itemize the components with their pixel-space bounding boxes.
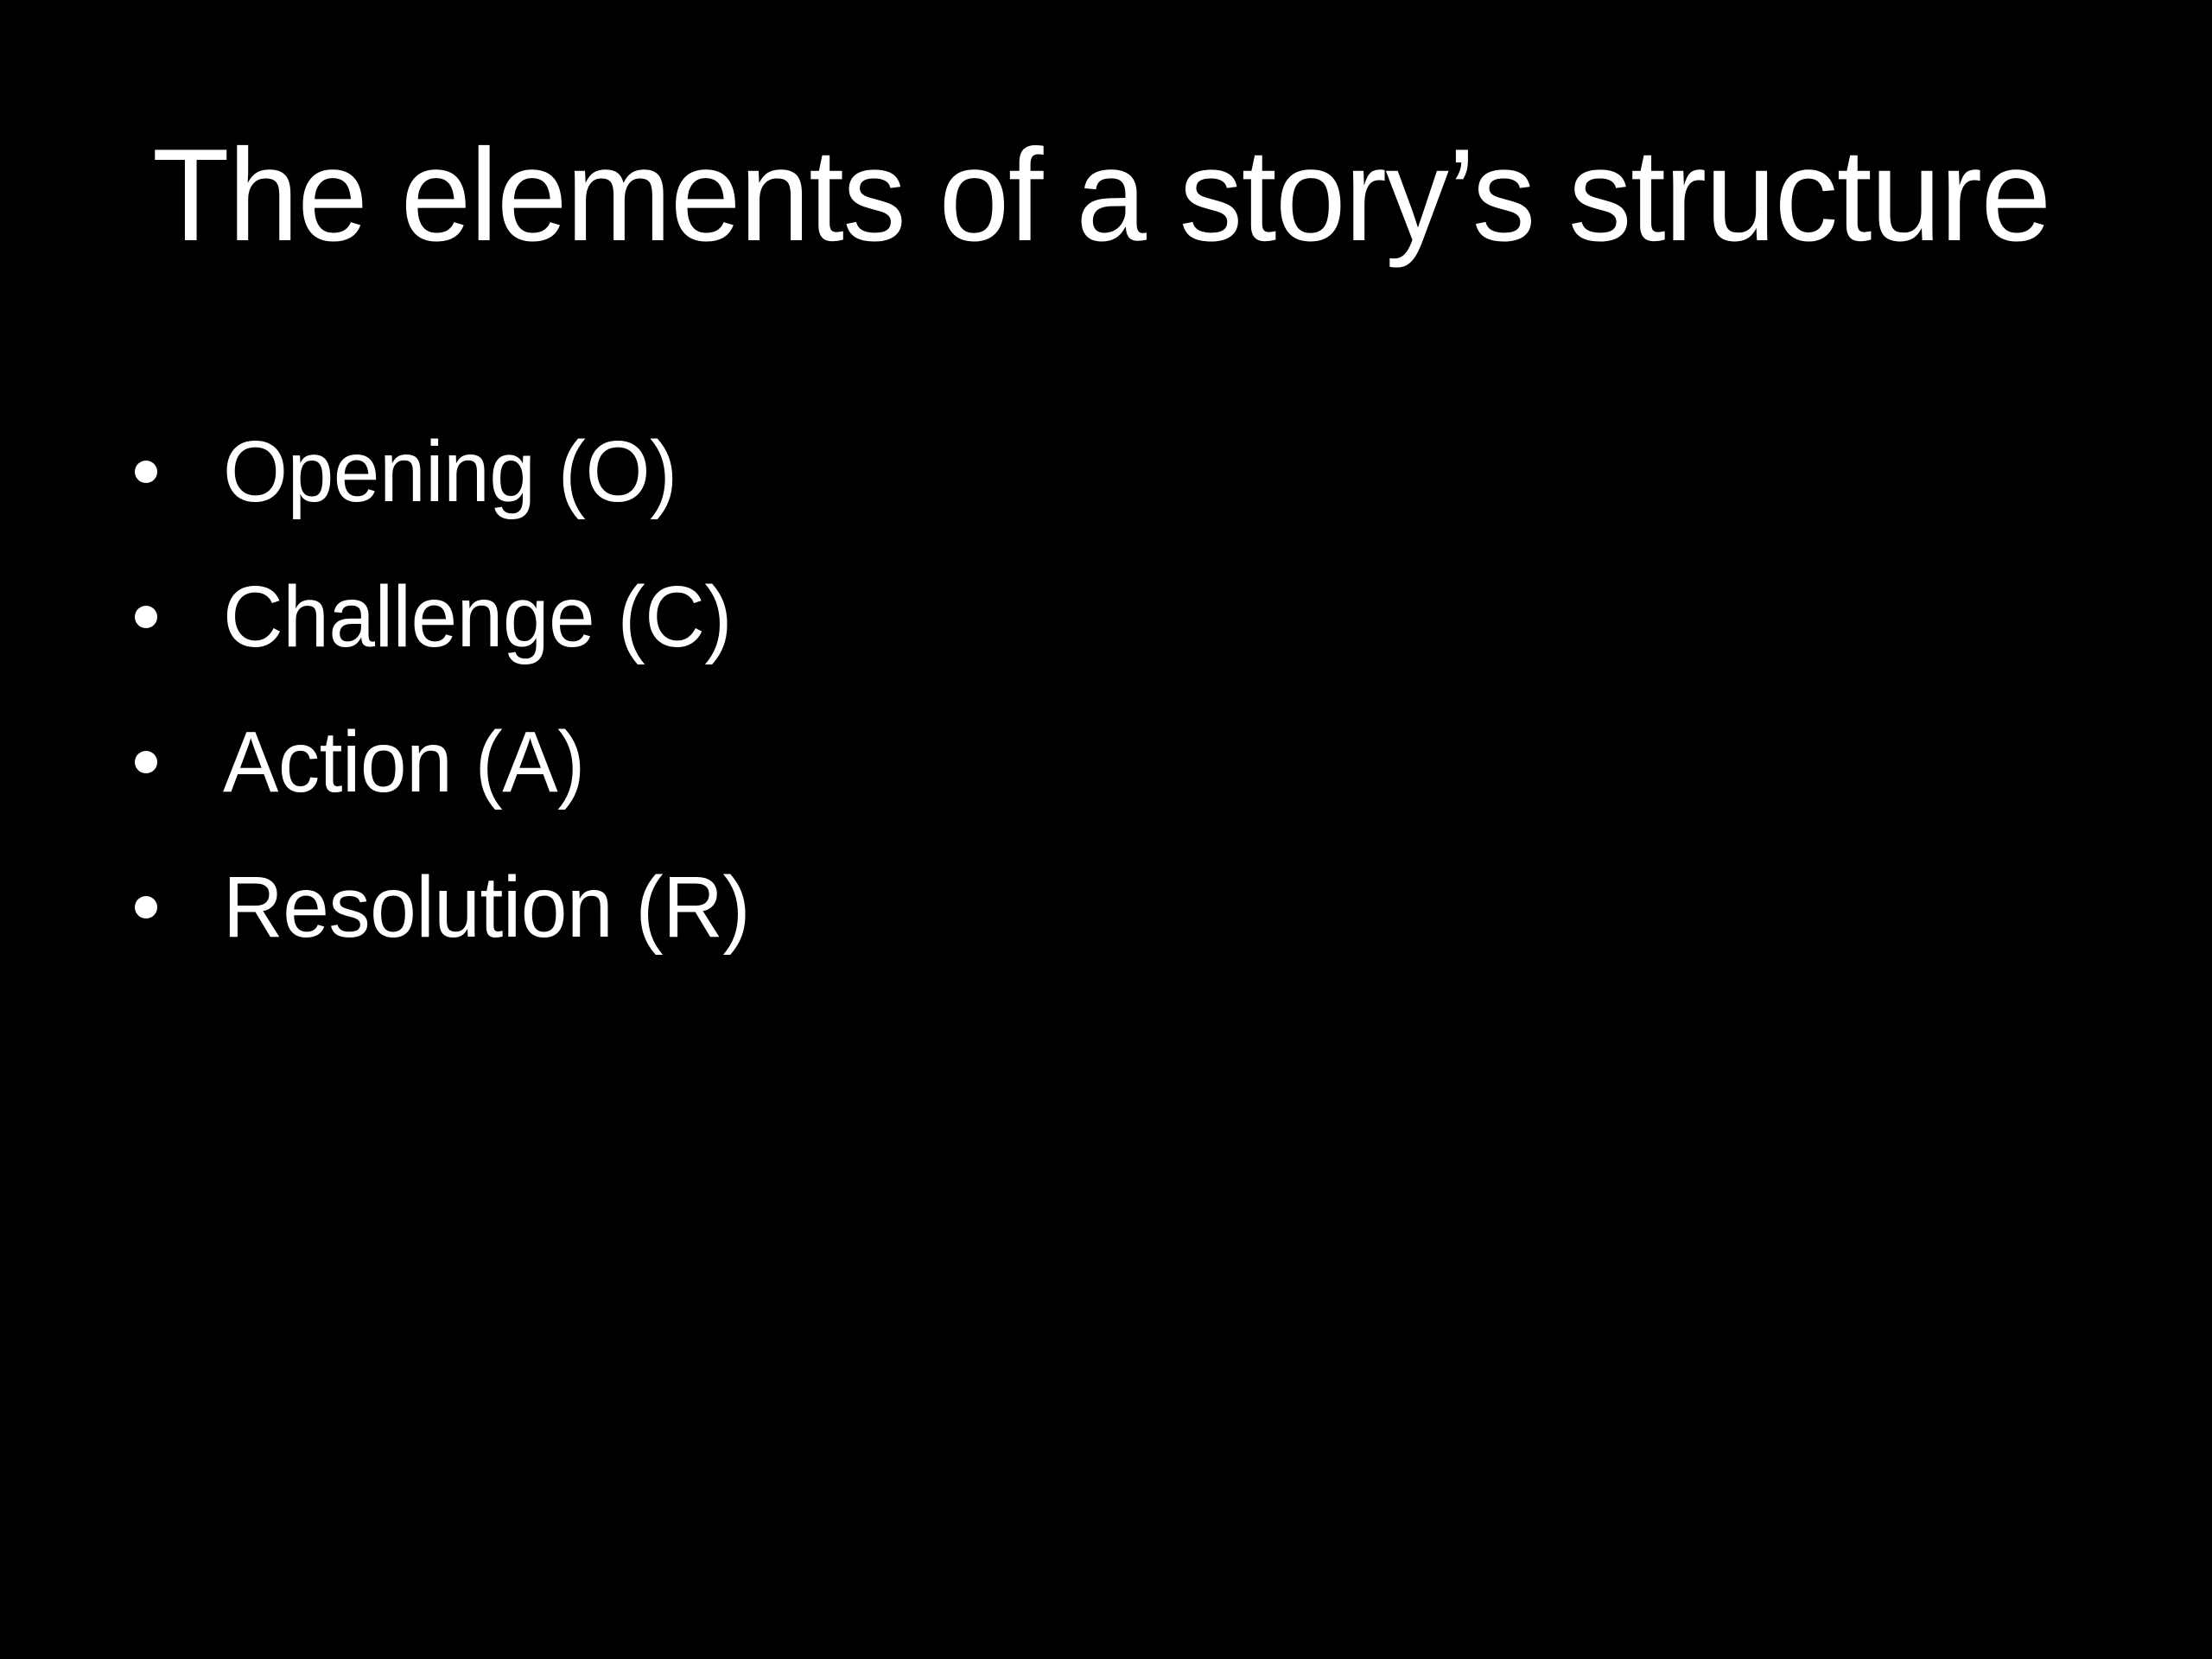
bullet-dot-icon <box>135 896 157 918</box>
slide-content-placeholder[interactable]: Opening (O) Challenge (C) Action (A) Res… <box>130 399 2100 980</box>
list-item-label: Action (A) <box>223 719 585 805</box>
slide-title-placeholder[interactable]: The elements of a story’s structure <box>152 130 2122 276</box>
list-item[interactable]: Action (A) <box>130 690 2100 835</box>
list-item-label: Resolution (R) <box>223 864 750 950</box>
page-title: The elements of a story’s structure <box>152 130 2053 261</box>
presentation-slide: The elements of a story’s structure Open… <box>0 0 2212 1659</box>
list-item[interactable]: Challenge (C) <box>130 544 2100 690</box>
list-item[interactable]: Opening (O) <box>130 399 2100 544</box>
bullet-dot-icon <box>135 461 157 483</box>
bullet-list: Opening (O) Challenge (C) Action (A) Res… <box>130 399 2100 980</box>
list-item-label: Opening (O) <box>223 429 677 515</box>
list-item[interactable]: Resolution (R) <box>130 835 2100 980</box>
bullet-dot-icon <box>135 751 157 773</box>
bullet-dot-icon <box>135 606 157 628</box>
list-item-label: Challenge (C) <box>223 574 732 660</box>
